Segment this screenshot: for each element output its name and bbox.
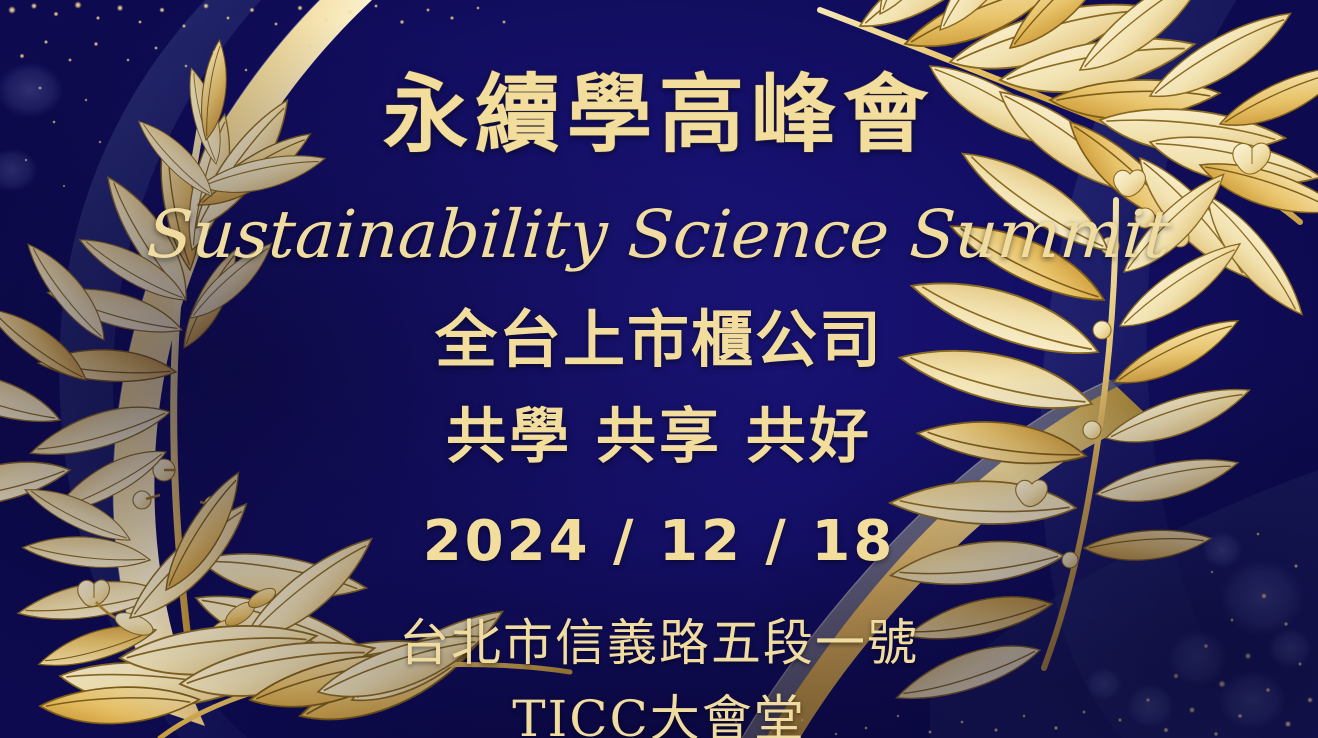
poster-event-date: 2024 / 12 / 18 [0,509,1318,574]
poster-title-chinese: 永續學高峰會 [0,72,1318,159]
poster-slogan: 共學 共享 共好 [0,388,1318,475]
poster-venue-name: TICC大會堂 [0,679,1318,738]
poster-title-english: Sustainability Science Summit [0,196,1318,273]
poster-venue-address: 台北市信義路五段一號 [0,603,1318,675]
poster-text-block: 永續學高峰會 Sustainability Science Summit 全台上… [0,0,1318,738]
event-poster: 永續學高峰會 Sustainability Science Summit 全台上… [0,0,1318,738]
poster-subtitle-company: 全台上市櫃公司 [0,289,1318,379]
